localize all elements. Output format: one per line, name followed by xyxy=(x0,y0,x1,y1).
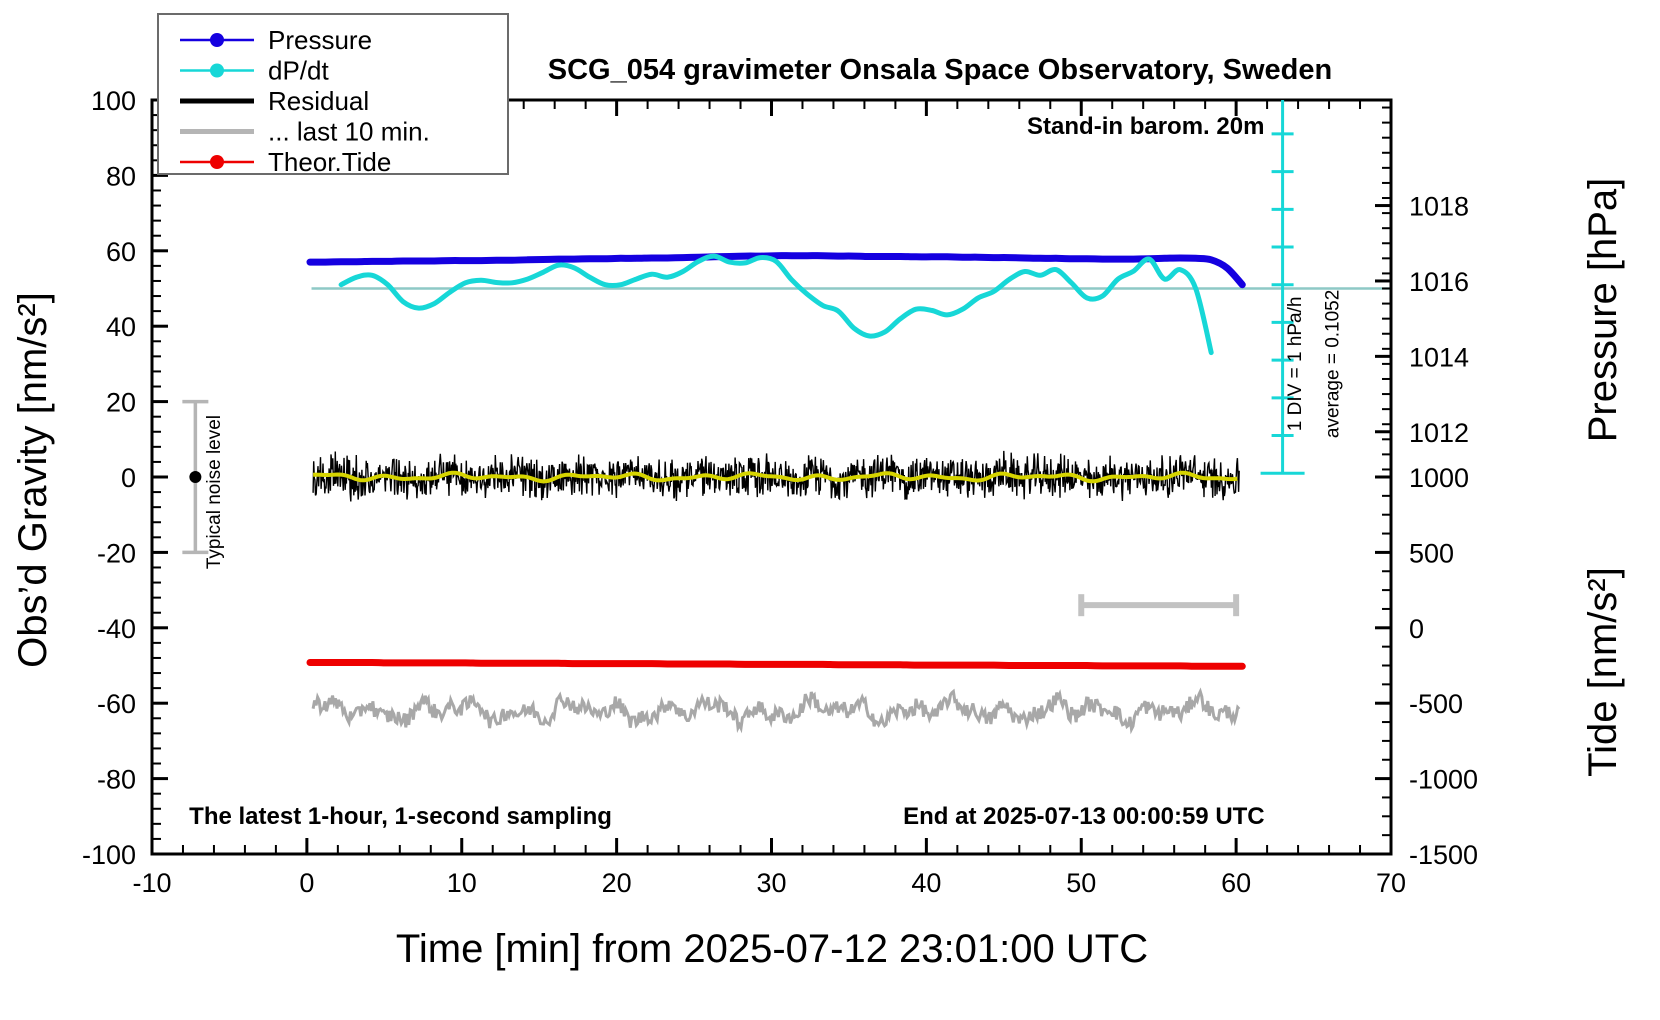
gravimeter-plot-page: -10010203040506070-100-80-60-40-20020406… xyxy=(0,0,1660,1020)
legend-label: dP/dt xyxy=(268,56,329,86)
pressure-tick-label: 1016 xyxy=(1409,267,1469,297)
y-tick-label: -80 xyxy=(97,765,136,795)
x-tick-label: 20 xyxy=(602,868,632,898)
legend-label: Residual xyxy=(268,86,369,116)
chart-title: SCG_054 gravimeter Onsala Space Observat… xyxy=(548,54,1332,86)
y-tick-label: -20 xyxy=(97,538,136,568)
x-tick-label: -10 xyxy=(132,868,171,898)
annotation-div-scale: 1 DIV = 1 hPa/h xyxy=(1285,297,1306,432)
gravimeter-chart: -10010203040506070-100-80-60-40-20020406… xyxy=(0,0,1660,1020)
legend-marker xyxy=(210,33,224,47)
legend: PressuredP/dtResidual... last 10 min.The… xyxy=(158,14,508,177)
y-tick-label: -40 xyxy=(97,614,136,644)
x-tick-label: 10 xyxy=(447,868,477,898)
annotation-stand-in-barom: Stand-in barom. 20m xyxy=(1027,113,1264,140)
tide-tick-label: 0 xyxy=(1409,614,1424,644)
legend-marker xyxy=(210,64,224,78)
y-tick-label: -100 xyxy=(82,840,136,870)
tide-tick-label: -1000 xyxy=(1409,765,1478,795)
y-tick-label: 40 xyxy=(106,312,136,342)
annotation-average: average = 0.1052 xyxy=(1322,290,1343,438)
y-tick-label: 0 xyxy=(121,463,136,493)
legend-label: Theor.Tide xyxy=(268,147,391,177)
x-axis-title: Time [min] from 2025-07-12 23:01:00 UTC xyxy=(396,927,1148,971)
annotation-typical-noise-level: Typical noise level xyxy=(204,415,225,569)
pressure-tick-label: 1014 xyxy=(1409,342,1469,372)
y-tick-label: 80 xyxy=(106,161,136,191)
legend-label: Pressure xyxy=(268,25,372,55)
series-theor-tide xyxy=(310,662,1242,666)
annotation-sampling-note: The latest 1-hour, 1-second sampling xyxy=(189,803,612,830)
x-tick-label: 50 xyxy=(1066,868,1096,898)
legend-marker xyxy=(210,155,224,169)
x-tick-label: 70 xyxy=(1376,868,1406,898)
tide-tick-label: 1000 xyxy=(1409,463,1469,493)
pressure-tick-label: 1018 xyxy=(1409,192,1469,222)
y-tick-label: -60 xyxy=(97,689,136,719)
x-tick-label: 60 xyxy=(1221,868,1251,898)
pressure-tick-label: 1012 xyxy=(1409,418,1469,448)
y-axis-title-tide: Tide [nm/s²] xyxy=(1581,567,1625,777)
x-tick-label: 0 xyxy=(299,868,314,898)
noise-bar-center-dot xyxy=(189,471,201,483)
legend-label: ... last 10 min. xyxy=(268,117,430,147)
annotation-end-time: End at 2025-07-13 00:00:59 UTC xyxy=(903,803,1265,830)
y-tick-label: 100 xyxy=(91,86,136,116)
tide-tick-label: 500 xyxy=(1409,538,1454,568)
tide-tick-label: -500 xyxy=(1409,689,1463,719)
y-tick-label: 20 xyxy=(106,388,136,418)
y-tick-label: 60 xyxy=(106,237,136,267)
y-axis-title-left: Obs’d Gravity [nm/s²] xyxy=(11,292,55,668)
x-tick-label: 30 xyxy=(756,868,786,898)
y-axis-title-pressure: Pressure [hPa] xyxy=(1581,178,1625,443)
x-tick-label: 40 xyxy=(911,868,941,898)
tide-tick-label: -1500 xyxy=(1409,840,1478,870)
